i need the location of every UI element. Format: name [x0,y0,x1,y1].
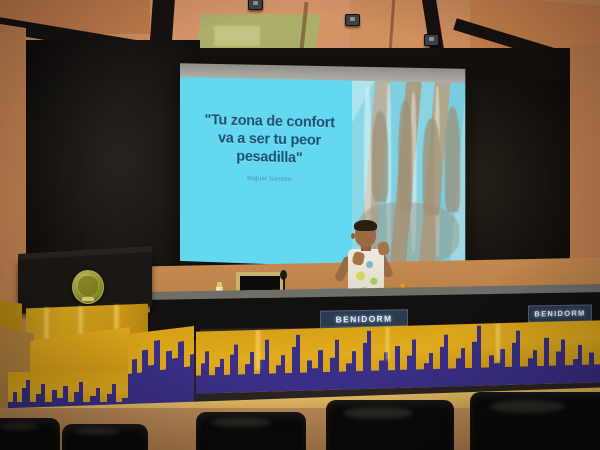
audience-chair [62,424,148,450]
speaker-hand-right [377,241,390,256]
projection-screen: "Tu zona de confort va a ser tu peor pes… [180,63,465,277]
presentation-slide: "Tu zona de confort va a ser tu peor pes… [180,77,465,271]
audience-chair [0,418,60,450]
ceiling-green-highlight [214,26,260,46]
audience-chair [470,392,600,450]
slide-attribution: Miguel Sancho [190,174,350,185]
city-coat-of-arms-icon [72,270,104,304]
audience-chair [326,400,454,450]
speaker-ear [351,233,355,239]
ceiling-spotlight-icon [345,14,360,26]
auditorium-photo: "Tu zona de confort va a ser tu peor pes… [0,0,600,450]
banner-benidorm-1: BENIDORM [320,309,408,328]
audience-chair [196,412,306,450]
slide-quote-line-3: pesadilla" [190,147,350,169]
speaker-hair [354,220,377,231]
ceiling-spotlight-icon [424,34,439,46]
slide-quote: "Tu zona de confort va a ser tu peor pes… [190,111,350,169]
skyline-panel-long [196,320,600,393]
ceiling-spotlight-icon [248,0,263,10]
table-microphone-head [280,270,287,280]
